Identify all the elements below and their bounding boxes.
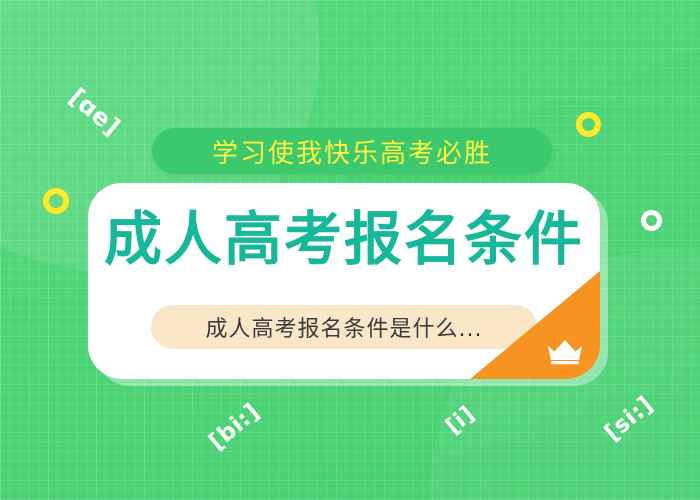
top-banner: 学习使我快乐高考必胜 xyxy=(152,128,552,174)
crown-icon xyxy=(546,337,584,365)
poster-canvas: [ɑe] [bi:] [i] [si:] 学习使我快乐高考必胜 成人高考报名条件… xyxy=(0,0,700,500)
yellow-ring-top-right-icon xyxy=(576,112,601,137)
page-title: 成人高考报名条件 xyxy=(88,210,600,268)
subtitle-text: 成人高考报名条件是什么... xyxy=(206,311,483,343)
subtitle-pill: 成人高考报名条件是什么... xyxy=(151,305,537,349)
top-banner-text: 学习使我快乐高考必胜 xyxy=(212,133,492,170)
white-ring-right-icon xyxy=(641,210,662,231)
yellow-ring-left-icon xyxy=(43,188,69,214)
main-card: 成人高考报名条件 成人高考报名条件是什么... xyxy=(88,183,600,379)
